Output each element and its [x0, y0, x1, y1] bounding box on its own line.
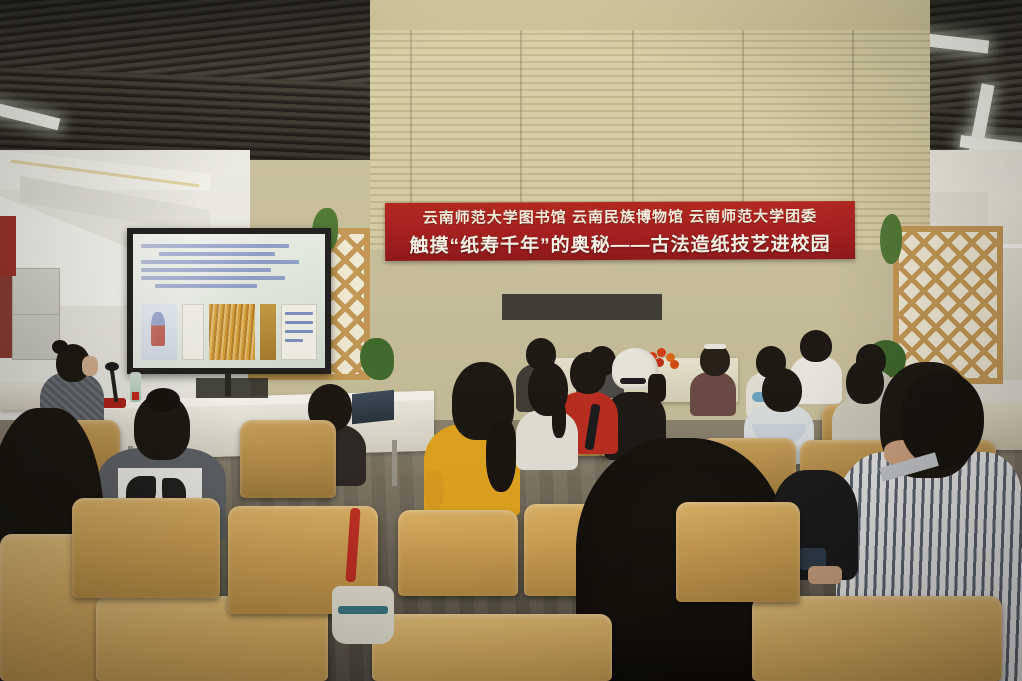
- microphone-icon: [105, 362, 119, 371]
- hair-tie: [704, 344, 726, 349]
- chair: [240, 420, 336, 498]
- chair: [752, 596, 1002, 681]
- banner-line-2: 触摸“纸寿千年”的奥秘——古法造纸技艺进校园: [409, 229, 830, 258]
- hair: [900, 372, 984, 468]
- red-wall-accent: [0, 216, 16, 276]
- bag-stripe: [338, 606, 388, 614]
- table-leg: [392, 440, 397, 486]
- presenter-face: [82, 356, 98, 376]
- screen-glare: [133, 234, 325, 368]
- cap-strap: [620, 378, 646, 384]
- arm: [424, 470, 444, 510]
- right-upper-panel: [930, 150, 1022, 192]
- tote-bag: [332, 586, 394, 644]
- water-bottle: [130, 372, 141, 402]
- chair: [398, 510, 518, 596]
- chair: [72, 498, 220, 598]
- laptop: [352, 390, 394, 424]
- hair-bun: [146, 388, 180, 412]
- back-dark-panel: [502, 294, 662, 320]
- event-banner: 云南师范大学图书馆 云南民族博物馆 云南师范大学团委 触摸“纸寿千年”的奥秘——…: [385, 201, 855, 261]
- projection-screen: [133, 234, 325, 368]
- presenter-hair-bun: [52, 340, 68, 354]
- hand: [808, 566, 842, 584]
- wall-top-band: [370, 0, 930, 30]
- lecture-hall-photo: 云南师范大学图书馆 云南民族博物馆 云南师范大学团委 触摸“纸寿千年”的奥秘——…: [0, 0, 1022, 681]
- right-lattice-screen: [893, 226, 1003, 384]
- ponytail: [486, 420, 516, 492]
- chair: [676, 502, 800, 602]
- potted-plant-left: [360, 338, 394, 380]
- projection-screen-frame: [127, 228, 331, 374]
- hair: [648, 374, 666, 402]
- table-monitor: [196, 378, 268, 398]
- banner-line-1: 云南师范大学图书馆 云南民族博物馆 云南师范大学团委: [423, 205, 817, 228]
- chair: [372, 614, 612, 681]
- plant-leaf: [880, 214, 902, 264]
